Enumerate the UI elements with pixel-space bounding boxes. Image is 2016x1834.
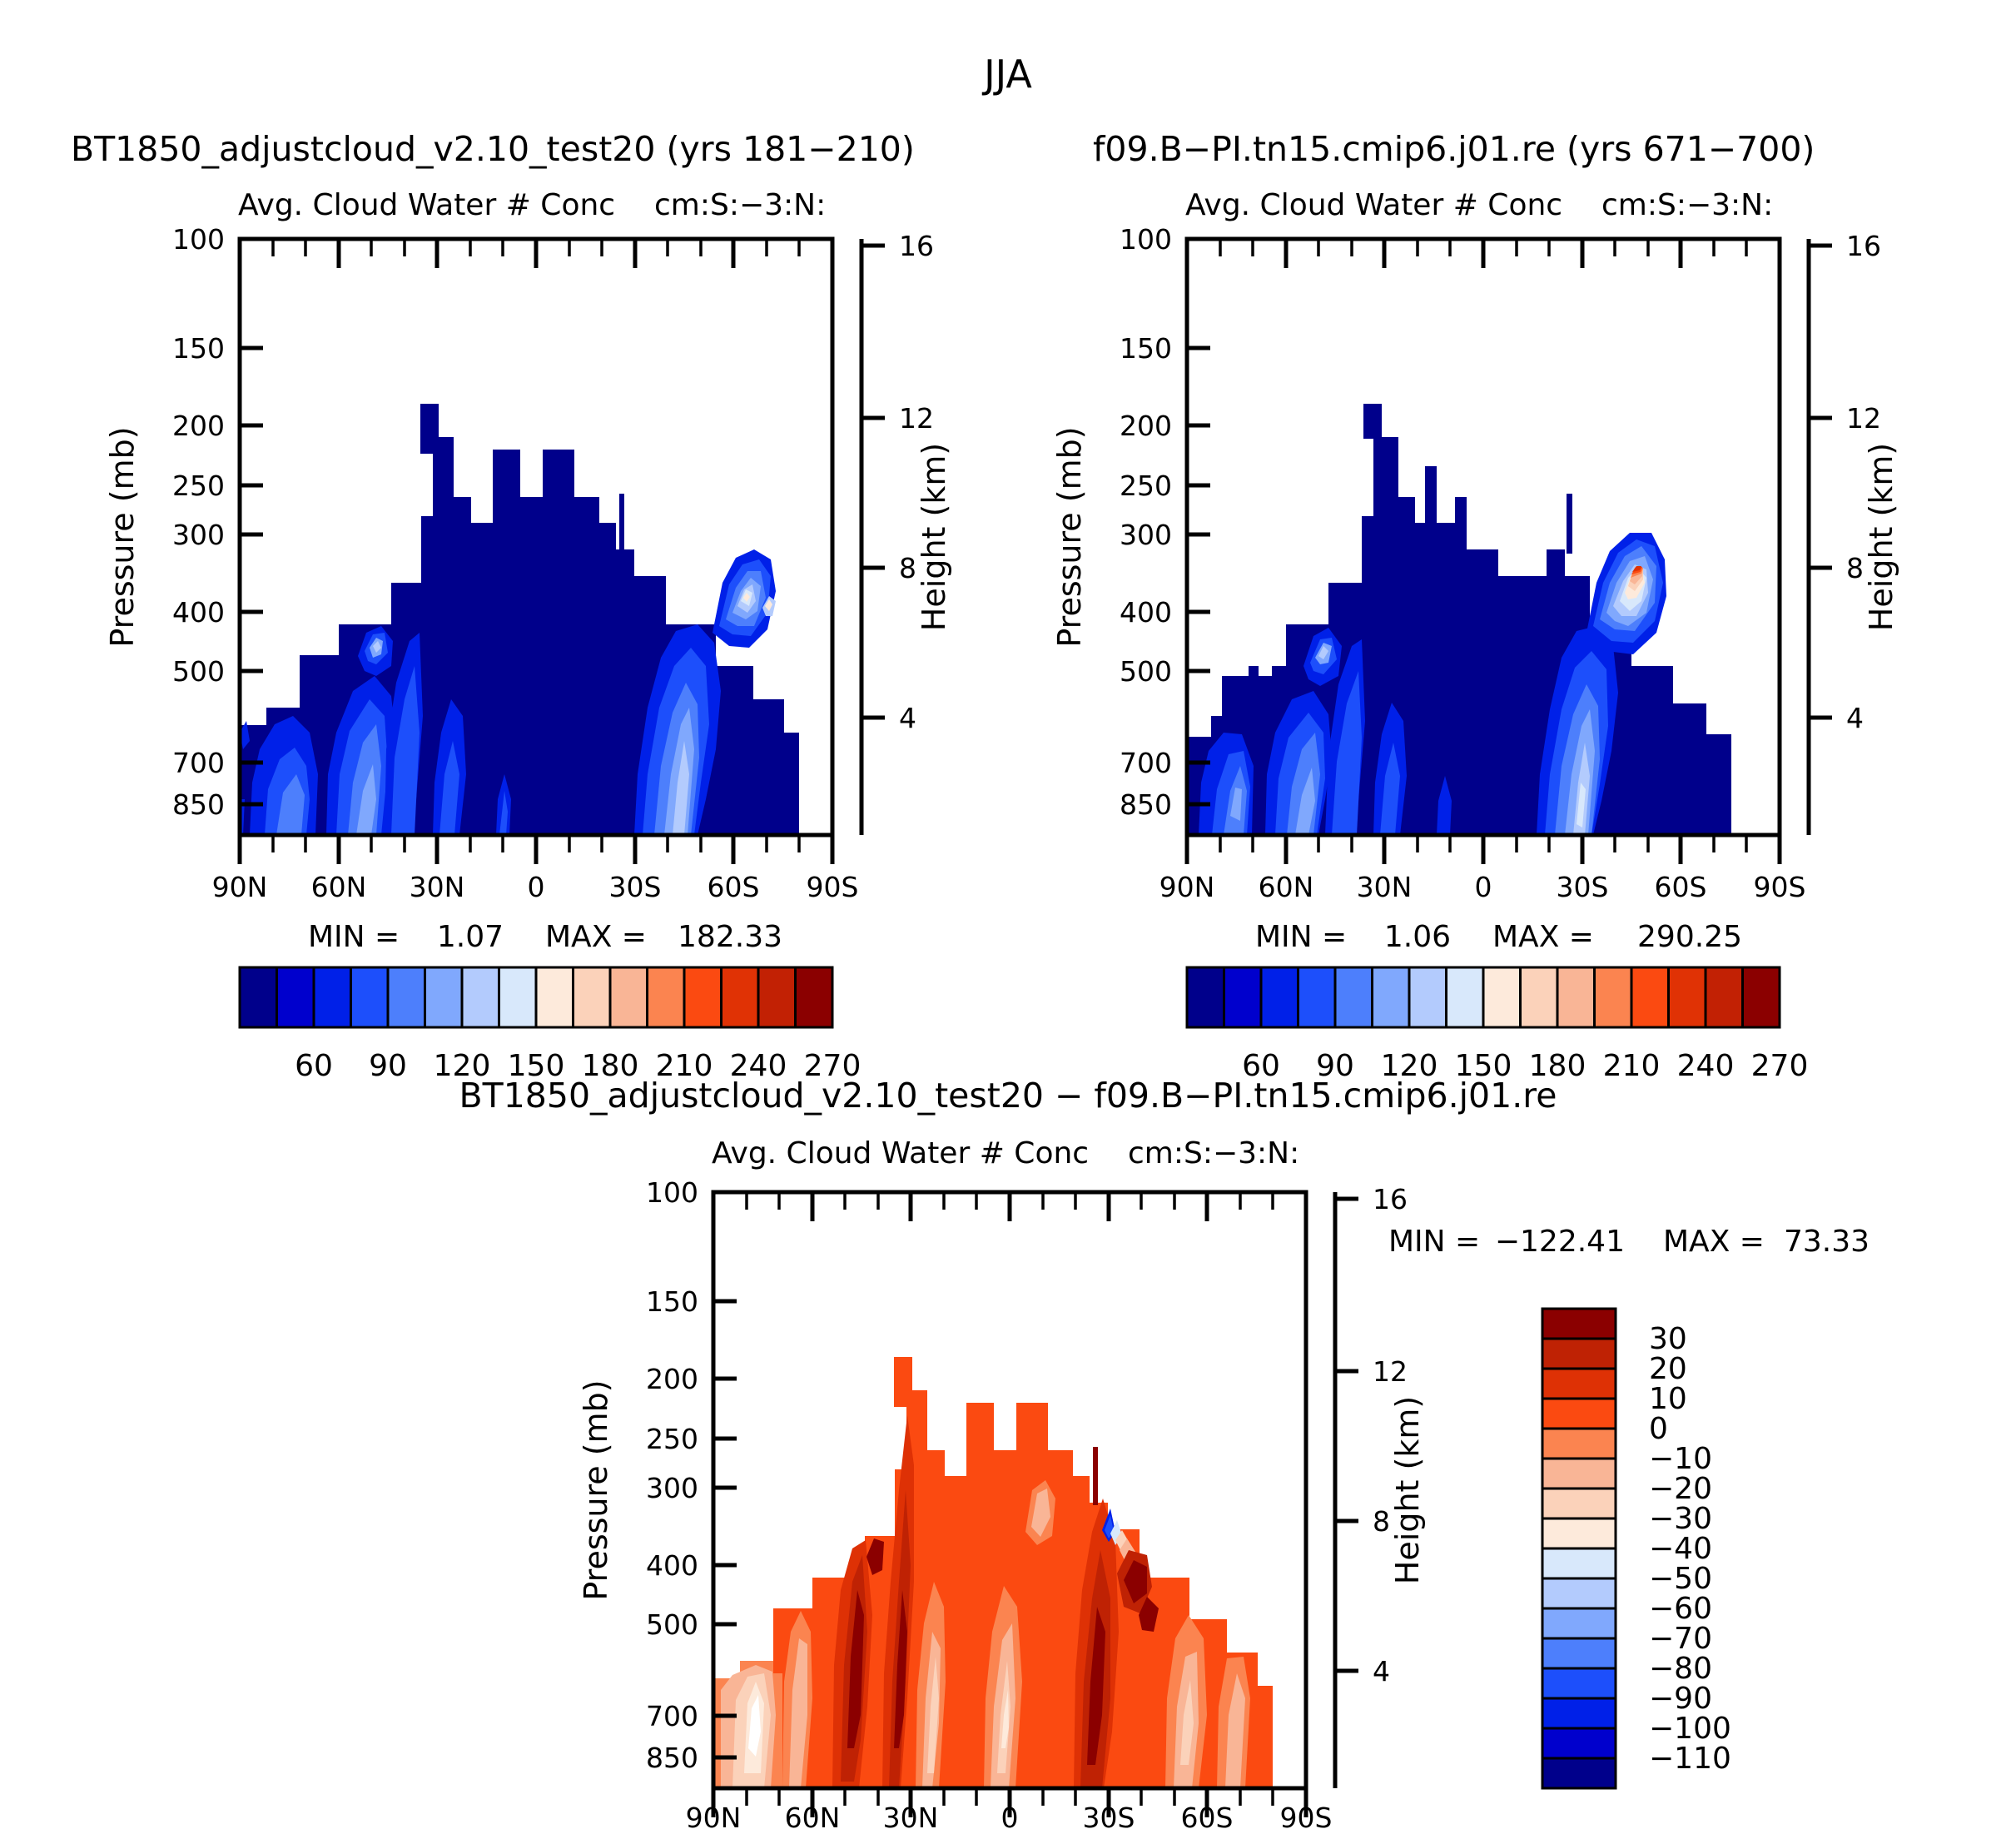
y-tick-label: 700 <box>646 1700 698 1732</box>
colorbar-diff-swatch <box>1542 1369 1616 1399</box>
colorbar-diff-swatch <box>1542 1698 1616 1728</box>
colorbar-left-tick-label: 60 <box>295 1049 333 1083</box>
colorbar-diff-tick-label: −90 <box>1649 1682 1712 1716</box>
y2-tick-label: 16 <box>1846 230 1881 262</box>
colorbar-diff-swatch <box>1542 1489 1616 1518</box>
panel-left-subtitle-units: cm:S:−3:N: <box>654 188 826 222</box>
colorbar-right-swatch <box>1521 967 1558 1027</box>
panel-left-subtitle: Avg. Cloud Water # Conc <box>238 188 615 222</box>
y-tick-label: 500 <box>1120 655 1172 688</box>
panel-left-max-value: 182.33 <box>678 920 782 954</box>
colorbar-diff-swatch <box>1542 1728 1616 1758</box>
y2-tick-label: 12 <box>1846 402 1881 435</box>
y-tick-label: 300 <box>172 519 225 551</box>
colorbar-right-swatch <box>1335 967 1373 1027</box>
y-tick-label: 500 <box>646 1608 698 1641</box>
colorbar-diff-tick-label: 30 <box>1649 1322 1687 1356</box>
y-tick-label: 400 <box>172 596 225 629</box>
x-tick-label: 30S <box>1557 871 1609 903</box>
x-tick-label: 60N <box>785 1802 841 1834</box>
x-tick-label: 90N <box>212 871 268 903</box>
y-tick-label: 100 <box>172 223 225 256</box>
panel-left-min-label: MIN = <box>308 920 400 954</box>
colorbar-diff-tick-label: −40 <box>1649 1532 1712 1566</box>
colorbar-right-swatch <box>1743 967 1780 1027</box>
y2-tick-label: 12 <box>1373 1355 1408 1388</box>
y2-tick-label: 8 <box>1373 1505 1390 1538</box>
x-tick-label: 30S <box>1083 1802 1135 1834</box>
y2-tick-label: 4 <box>1373 1655 1390 1687</box>
y-tick-label: 300 <box>646 1472 698 1504</box>
colorbar-left-swatch <box>425 967 463 1027</box>
y2-tick-label: 4 <box>1846 702 1864 734</box>
panel-left-ylabel: Pressure (mb) <box>104 426 141 647</box>
x-tick-label: 30S <box>609 871 662 903</box>
colorbar-diff-swatch <box>1542 1518 1616 1548</box>
panel-left-max-label: MAX = <box>545 920 647 954</box>
colorbar-diff-tick-label: 10 <box>1649 1382 1687 1416</box>
colorbar-right-swatch <box>1447 967 1484 1027</box>
y2-tick-label: 16 <box>1373 1183 1408 1215</box>
colorbar-right-swatch <box>1373 967 1410 1027</box>
colorbar-diff-tick-label: −110 <box>1649 1742 1731 1776</box>
panel-diff-title: BT1850_adjustcloud_v2.10_test20 − f09.B−… <box>459 1076 1557 1116</box>
panel-diff-y2label: Height (km) <box>1389 1396 1426 1584</box>
colorbar-right-tick-label: 210 <box>1603 1049 1661 1083</box>
y-tick-label: 400 <box>1120 596 1172 629</box>
x-tick-label: 30N <box>1357 871 1413 903</box>
colorbar-left-swatch <box>351 967 389 1027</box>
colorbar-left-swatch <box>758 967 796 1027</box>
colorbar-right-swatch <box>1483 967 1521 1027</box>
panel-right-subtitle-units: cm:S:−3:N: <box>1601 188 1773 222</box>
panel-right-ylabel: Pressure (mb) <box>1051 426 1088 647</box>
x-tick-label: 90S <box>1280 1802 1333 1834</box>
colorbar-diff-swatch <box>1542 1668 1616 1698</box>
colorbar-diff-swatch <box>1542 1399 1616 1429</box>
y2-tick-label: 12 <box>899 402 934 435</box>
x-tick-label: 30N <box>410 871 465 903</box>
y-tick-label: 200 <box>646 1363 698 1395</box>
x-tick-label: 0 <box>1001 1802 1019 1834</box>
colorbar-diff-swatch <box>1542 1459 1616 1489</box>
colorbar-right-tick-label: 240 <box>1677 1049 1735 1083</box>
y-tick-label: 850 <box>646 1742 698 1774</box>
colorbar-right-swatch <box>1261 967 1298 1027</box>
colorbar-right-swatch <box>1557 967 1595 1027</box>
colorbar-right-swatch <box>1298 967 1336 1027</box>
y-tick-label: 850 <box>172 788 225 821</box>
y-tick-label: 250 <box>172 470 225 502</box>
panel-diff-max-value: 73.33 <box>1784 1225 1870 1259</box>
panel-diff-ylabel: Pressure (mb) <box>578 1379 614 1600</box>
colorbar-left-tick-label: 90 <box>369 1049 407 1083</box>
colorbar-diff-tick-label: −50 <box>1649 1562 1712 1596</box>
colorbar-diff-tick-label: −30 <box>1649 1502 1712 1536</box>
y-tick-label: 250 <box>646 1423 698 1455</box>
colorbar-left-swatch <box>796 967 833 1027</box>
colorbar-diff-swatch <box>1542 1758 1616 1788</box>
x-tick-label: 90N <box>1159 871 1215 903</box>
colorbar-left-swatch <box>684 967 722 1027</box>
y-tick-label: 700 <box>172 747 225 779</box>
colorbar-left-swatch <box>240 967 277 1027</box>
x-tick-label: 30N <box>883 1802 939 1834</box>
x-tick-label: 60S <box>708 871 760 903</box>
colorbar-diff-tick-label: −60 <box>1649 1592 1712 1626</box>
colorbar-diff-tick-label: 0 <box>1649 1412 1668 1446</box>
colorbar-left-swatch <box>314 967 351 1027</box>
colorbar-right-swatch <box>1631 967 1669 1027</box>
colorbar-left-swatch <box>277 967 315 1027</box>
colorbar-right-swatch <box>1669 967 1706 1027</box>
panel-diff-subtitle-units: cm:S:−3:N: <box>1128 1136 1299 1170</box>
colorbar-left-swatch <box>574 967 611 1027</box>
colorbar-diff-swatch <box>1542 1548 1616 1578</box>
colorbar-right-swatch <box>1706 967 1743 1027</box>
colorbar-diff-tick-label: 20 <box>1649 1352 1687 1386</box>
x-tick-label: 60N <box>1259 871 1314 903</box>
colorbar-diff-tick-label: −100 <box>1649 1712 1731 1746</box>
colorbar-left-swatch <box>462 967 499 1027</box>
y-tick-label: 200 <box>1120 410 1172 442</box>
colorbar-diff-tick-label: −70 <box>1649 1622 1712 1656</box>
colorbar-left-swatch <box>536 967 574 1027</box>
colorbar-right-swatch <box>1595 967 1632 1027</box>
x-tick-label: 60N <box>311 871 367 903</box>
colorbar-diff-swatch <box>1542 1608 1616 1638</box>
y2-tick-label: 8 <box>899 552 916 584</box>
colorbar-right-swatch <box>1187 967 1224 1027</box>
y-tick-label: 300 <box>1120 519 1172 551</box>
colorbar-diff-tick-label: −20 <box>1649 1472 1712 1506</box>
y-tick-label: 150 <box>172 332 225 365</box>
panel-diff-min-value: −122.41 <box>1495 1225 1625 1259</box>
x-tick-label: 60S <box>1655 871 1707 903</box>
panel-diff-min-label: MIN = <box>1388 1225 1480 1259</box>
colorbar-diff-swatch <box>1542 1339 1616 1369</box>
panel-right-max-value: 290.25 <box>1637 920 1742 954</box>
colorbar-diff-swatch <box>1542 1638 1616 1668</box>
colorbar-right-swatch <box>1224 967 1262 1027</box>
y-tick-label: 400 <box>646 1549 698 1582</box>
y-tick-label: 150 <box>1120 332 1172 365</box>
colorbar-diff-swatch <box>1542 1309 1616 1339</box>
colorbar-diff-swatch <box>1542 1578 1616 1608</box>
panel-right-title: f09.B−PI.tn15.cmip6.j01.re (yrs 671−700) <box>1093 129 1815 169</box>
x-tick-label: 90S <box>1754 871 1806 903</box>
x-tick-label: 0 <box>1475 871 1492 903</box>
figure-canvas: JJA BT1850_adjustcloud_v2.10_test20 (yrs… <box>0 0 2016 1834</box>
panel-diff-subtitle: Avg. Cloud Water # Conc <box>712 1136 1089 1170</box>
y2-tick-label: 8 <box>1846 552 1864 584</box>
x-tick-label: 90S <box>807 871 859 903</box>
panel-left-min-value: 1.07 <box>437 920 504 954</box>
panel-left-title: BT1850_adjustcloud_v2.10_test20 (yrs 181… <box>71 129 915 169</box>
colorbar-right-tick-label: 270 <box>1751 1049 1809 1083</box>
y-tick-label: 200 <box>172 410 225 442</box>
y-tick-label: 100 <box>646 1176 698 1209</box>
panel-diff-max-label: MAX = <box>1663 1225 1765 1259</box>
colorbar-left-swatch <box>610 967 648 1027</box>
colorbar-diff-tick-label: −80 <box>1649 1652 1712 1686</box>
y-tick-label: 250 <box>1120 470 1172 502</box>
colorbar-left-swatch <box>648 967 685 1027</box>
y-tick-label: 850 <box>1120 788 1172 821</box>
y-tick-label: 100 <box>1120 223 1172 256</box>
y-tick-label: 150 <box>646 1285 698 1318</box>
colorbar-left-swatch <box>722 967 759 1027</box>
panel-right-min-value: 1.06 <box>1384 920 1451 954</box>
x-tick-label: 60S <box>1181 1802 1234 1834</box>
colorbar-left-swatch <box>499 967 537 1027</box>
panel-right-y2label: Height (km) <box>1863 443 1899 631</box>
panel-right-min-label: MIN = <box>1255 920 1347 954</box>
figure-season-title: JJA <box>981 52 1032 97</box>
panel-left-y2label: Height (km) <box>916 443 952 631</box>
panel-right-max-label: MAX = <box>1492 920 1594 954</box>
x-tick-label: 0 <box>528 871 545 903</box>
y-tick-label: 500 <box>172 655 225 688</box>
colorbar-diff-tick-label: −10 <box>1649 1442 1712 1476</box>
panel-right-subtitle: Avg. Cloud Water # Conc <box>1185 188 1562 222</box>
x-tick-label: 90N <box>686 1802 742 1834</box>
colorbar-right-swatch <box>1409 967 1447 1027</box>
colorbar-left-swatch <box>388 967 425 1027</box>
y2-tick-label: 4 <box>899 702 916 734</box>
y2-tick-label: 16 <box>899 230 934 262</box>
y-tick-label: 700 <box>1120 747 1172 779</box>
colorbar-diff-swatch <box>1542 1429 1616 1459</box>
